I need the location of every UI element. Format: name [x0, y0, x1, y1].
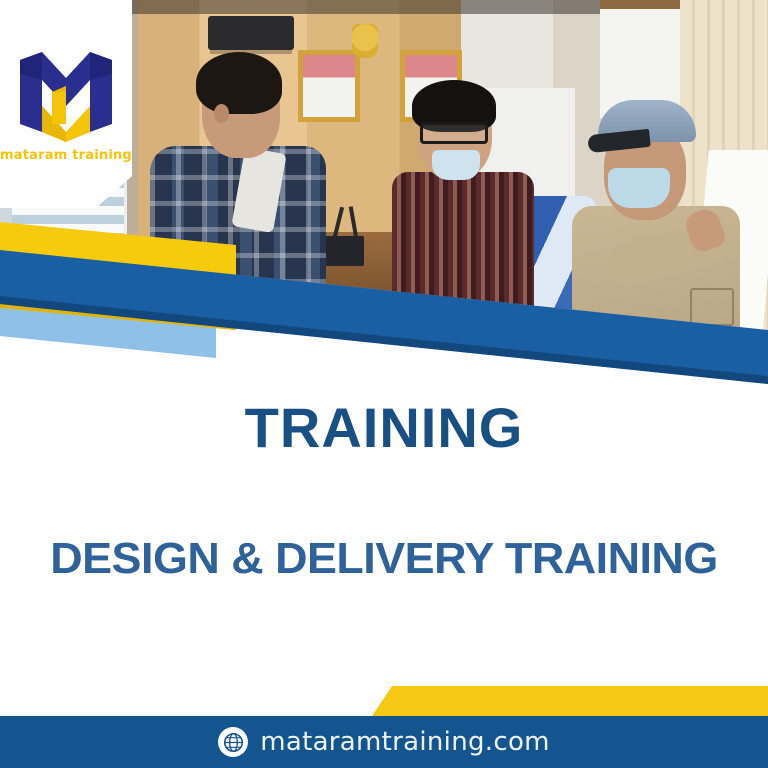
framed-portrait	[298, 50, 360, 122]
website-row[interactable]: mataramtraining.com	[218, 727, 550, 757]
window-sill	[6, 268, 136, 282]
person-plaid-ear	[214, 104, 229, 123]
wall-speaker-icon	[208, 16, 294, 50]
person-plaid-shirt-body	[150, 146, 326, 336]
logo-wordmark: mataram training	[0, 148, 132, 163]
footer-bar: mataramtraining.com	[0, 716, 768, 768]
page-subtitle: DESIGN & DELIVERY TRAINING	[0, 534, 768, 584]
website-url[interactable]: mataramtraining.com	[260, 727, 550, 757]
logo-panel: mataram training	[0, 0, 132, 208]
eyeglasses-icon	[420, 122, 488, 144]
mataram-m-logo-icon	[16, 50, 116, 142]
person-plaid-hair	[196, 52, 282, 114]
wall-emblem	[352, 24, 378, 58]
person-striped-shirt-body	[392, 172, 534, 362]
face-mask	[432, 150, 480, 180]
poster-canvas: mataram training TRAINING DESIGN & DELIV…	[0, 0, 768, 768]
face-mask	[608, 168, 670, 208]
page-title: TRAINING	[0, 395, 768, 460]
jacket-pocket	[690, 288, 734, 326]
globe-icon	[218, 727, 248, 757]
